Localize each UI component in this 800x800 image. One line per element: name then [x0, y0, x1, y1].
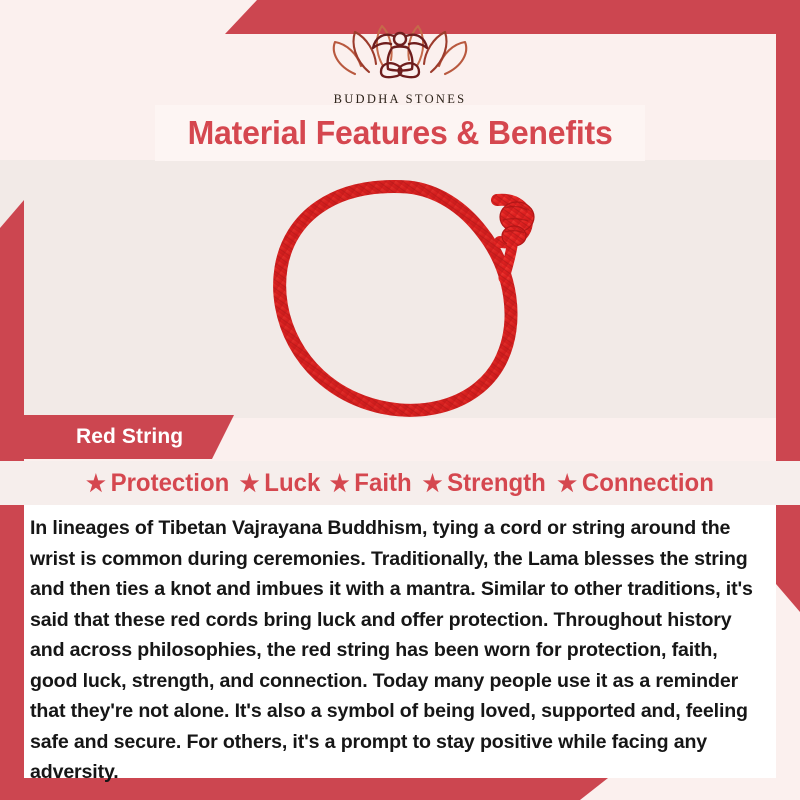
star-icon: ★: [557, 472, 577, 495]
product-hero: [0, 160, 800, 418]
benefit-label: Protection: [111, 469, 230, 498]
material-banner-label: Red String: [24, 425, 183, 449]
star-icon: ★: [422, 472, 442, 495]
page-title-band: Material Features & Benefits: [155, 105, 645, 161]
material-banner: Red String: [24, 415, 234, 459]
benefit-label: Luck: [264, 469, 320, 498]
benefit-label: Faith: [354, 469, 411, 498]
benefit-item-luck: ★ Luck: [240, 469, 321, 498]
star-icon: ★: [330, 472, 350, 495]
red-braided-string-bracelet: [0, 160, 800, 418]
brand-logo: BUDDHA STONES: [280, 14, 520, 107]
lotus-meditation-icon: [280, 14, 520, 91]
benefit-item-protection: ★ Protection: [86, 469, 229, 498]
benefits-list: ★ Protection ★ Luck ★ Faith ★ Strength ★…: [0, 461, 800, 505]
page-header: BUDDHA STONES Material Features & Benefi…: [0, 0, 800, 168]
page-title: Material Features & Benefits: [187, 114, 612, 152]
description-paragraph: In lineages of Tibetan Vajrayana Buddhis…: [30, 513, 760, 788]
benefit-item-faith: ★ Faith: [330, 469, 412, 498]
brand-name: BUDDHA STONES: [280, 92, 520, 107]
benefit-item-strength: ★ Strength: [422, 469, 545, 498]
material-banner-row: Red String: [0, 415, 800, 459]
star-icon: ★: [240, 472, 260, 495]
benefit-label: Connection: [582, 469, 714, 498]
description-panel: In lineages of Tibetan Vajrayana Buddhis…: [24, 505, 776, 778]
benefit-item-connection: ★ Connection: [557, 469, 714, 498]
star-icon: ★: [86, 472, 106, 495]
benefit-label: Strength: [447, 469, 546, 498]
